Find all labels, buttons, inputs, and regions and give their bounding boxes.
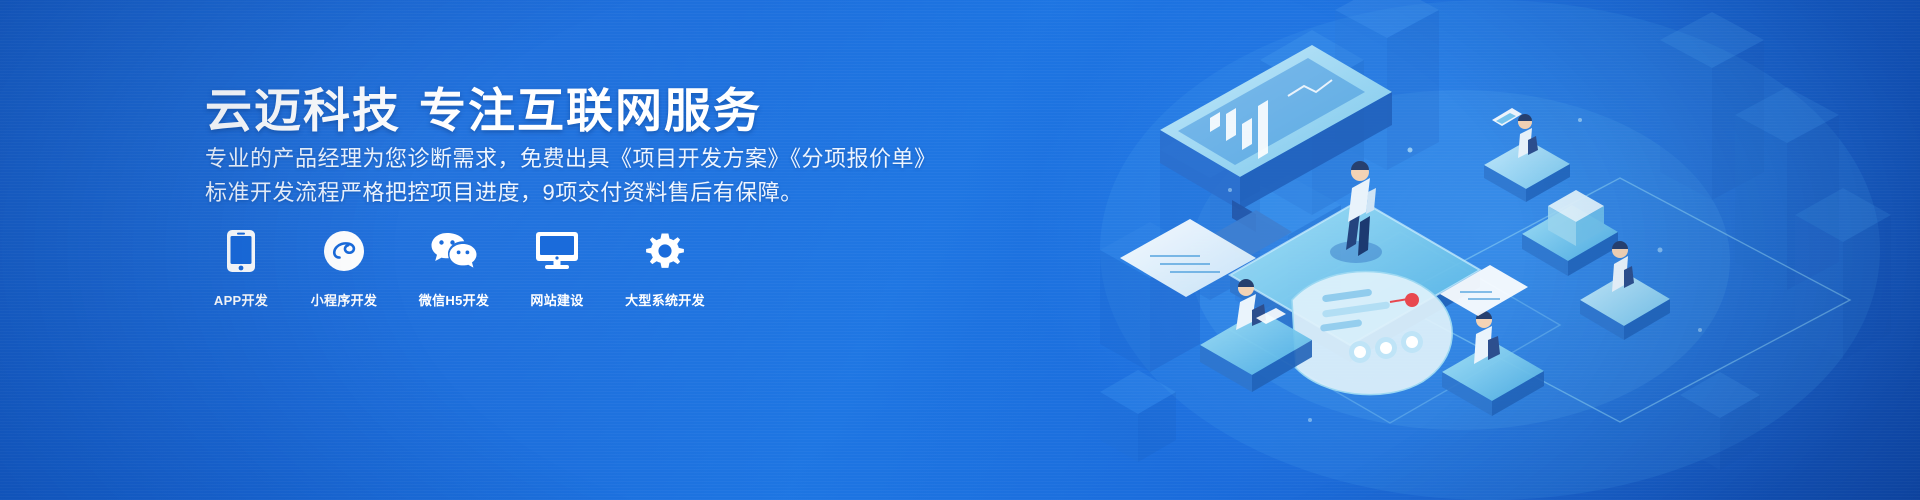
service-label: 大型系统开发 (625, 290, 705, 309)
service-list: APP开发 小程序开发 (205, 228, 713, 309)
service-item-website[interactable]: 网站建设 (521, 228, 593, 309)
illustration-container (1060, 0, 1920, 500)
service-item-large-system[interactable]: 大型系统开发 (617, 228, 713, 309)
subtitle-line-1: 专业的产品经理为您诊断需求，免费出具《项目开发方案》《分项报价单》 (205, 142, 937, 176)
headline-tagline: 专注互联网服务 (419, 84, 762, 137)
service-item-wechat-h5[interactable]: 微信H5开发 (411, 228, 497, 309)
data-ribbon-graphic (1292, 271, 1452, 394)
service-label: 网站建设 (530, 290, 583, 309)
service-label: 小程序开发 (311, 290, 378, 309)
gear-icon (642, 228, 688, 274)
monitor-icon (534, 228, 580, 274)
hero-banner: 云迈科技专注互联网服务 专业的产品经理为您诊断需求，免费出具《项目开发方案》《分… (0, 0, 1920, 500)
isometric-tech-team-illustration (1060, 0, 1920, 500)
subtitle-block: 专业的产品经理为您诊断需求，免费出具《项目开发方案》《分项报价单》 标准开发流程… (205, 142, 937, 210)
headline-brand: 云迈科技 (205, 84, 401, 137)
mini-program-icon (321, 228, 367, 274)
service-item-miniprogram[interactable]: 小程序开发 (301, 228, 387, 309)
wechat-icon (431, 228, 477, 274)
service-label: 微信H5开发 (419, 290, 489, 309)
page-title: 云迈科技专注互联网服务 (205, 72, 762, 141)
subtitle-line-2: 标准开发流程严格把控项目进度，9项交付资料售后有保障。 (205, 176, 937, 210)
service-item-app[interactable]: APP开发 (205, 228, 277, 309)
service-label: APP开发 (214, 290, 268, 309)
mobile-phone-icon (218, 228, 264, 274)
banner-content: 云迈科技专注互联网服务 专业的产品经理为您诊断需求，免费出具《项目开发方案》《分… (205, 0, 965, 500)
